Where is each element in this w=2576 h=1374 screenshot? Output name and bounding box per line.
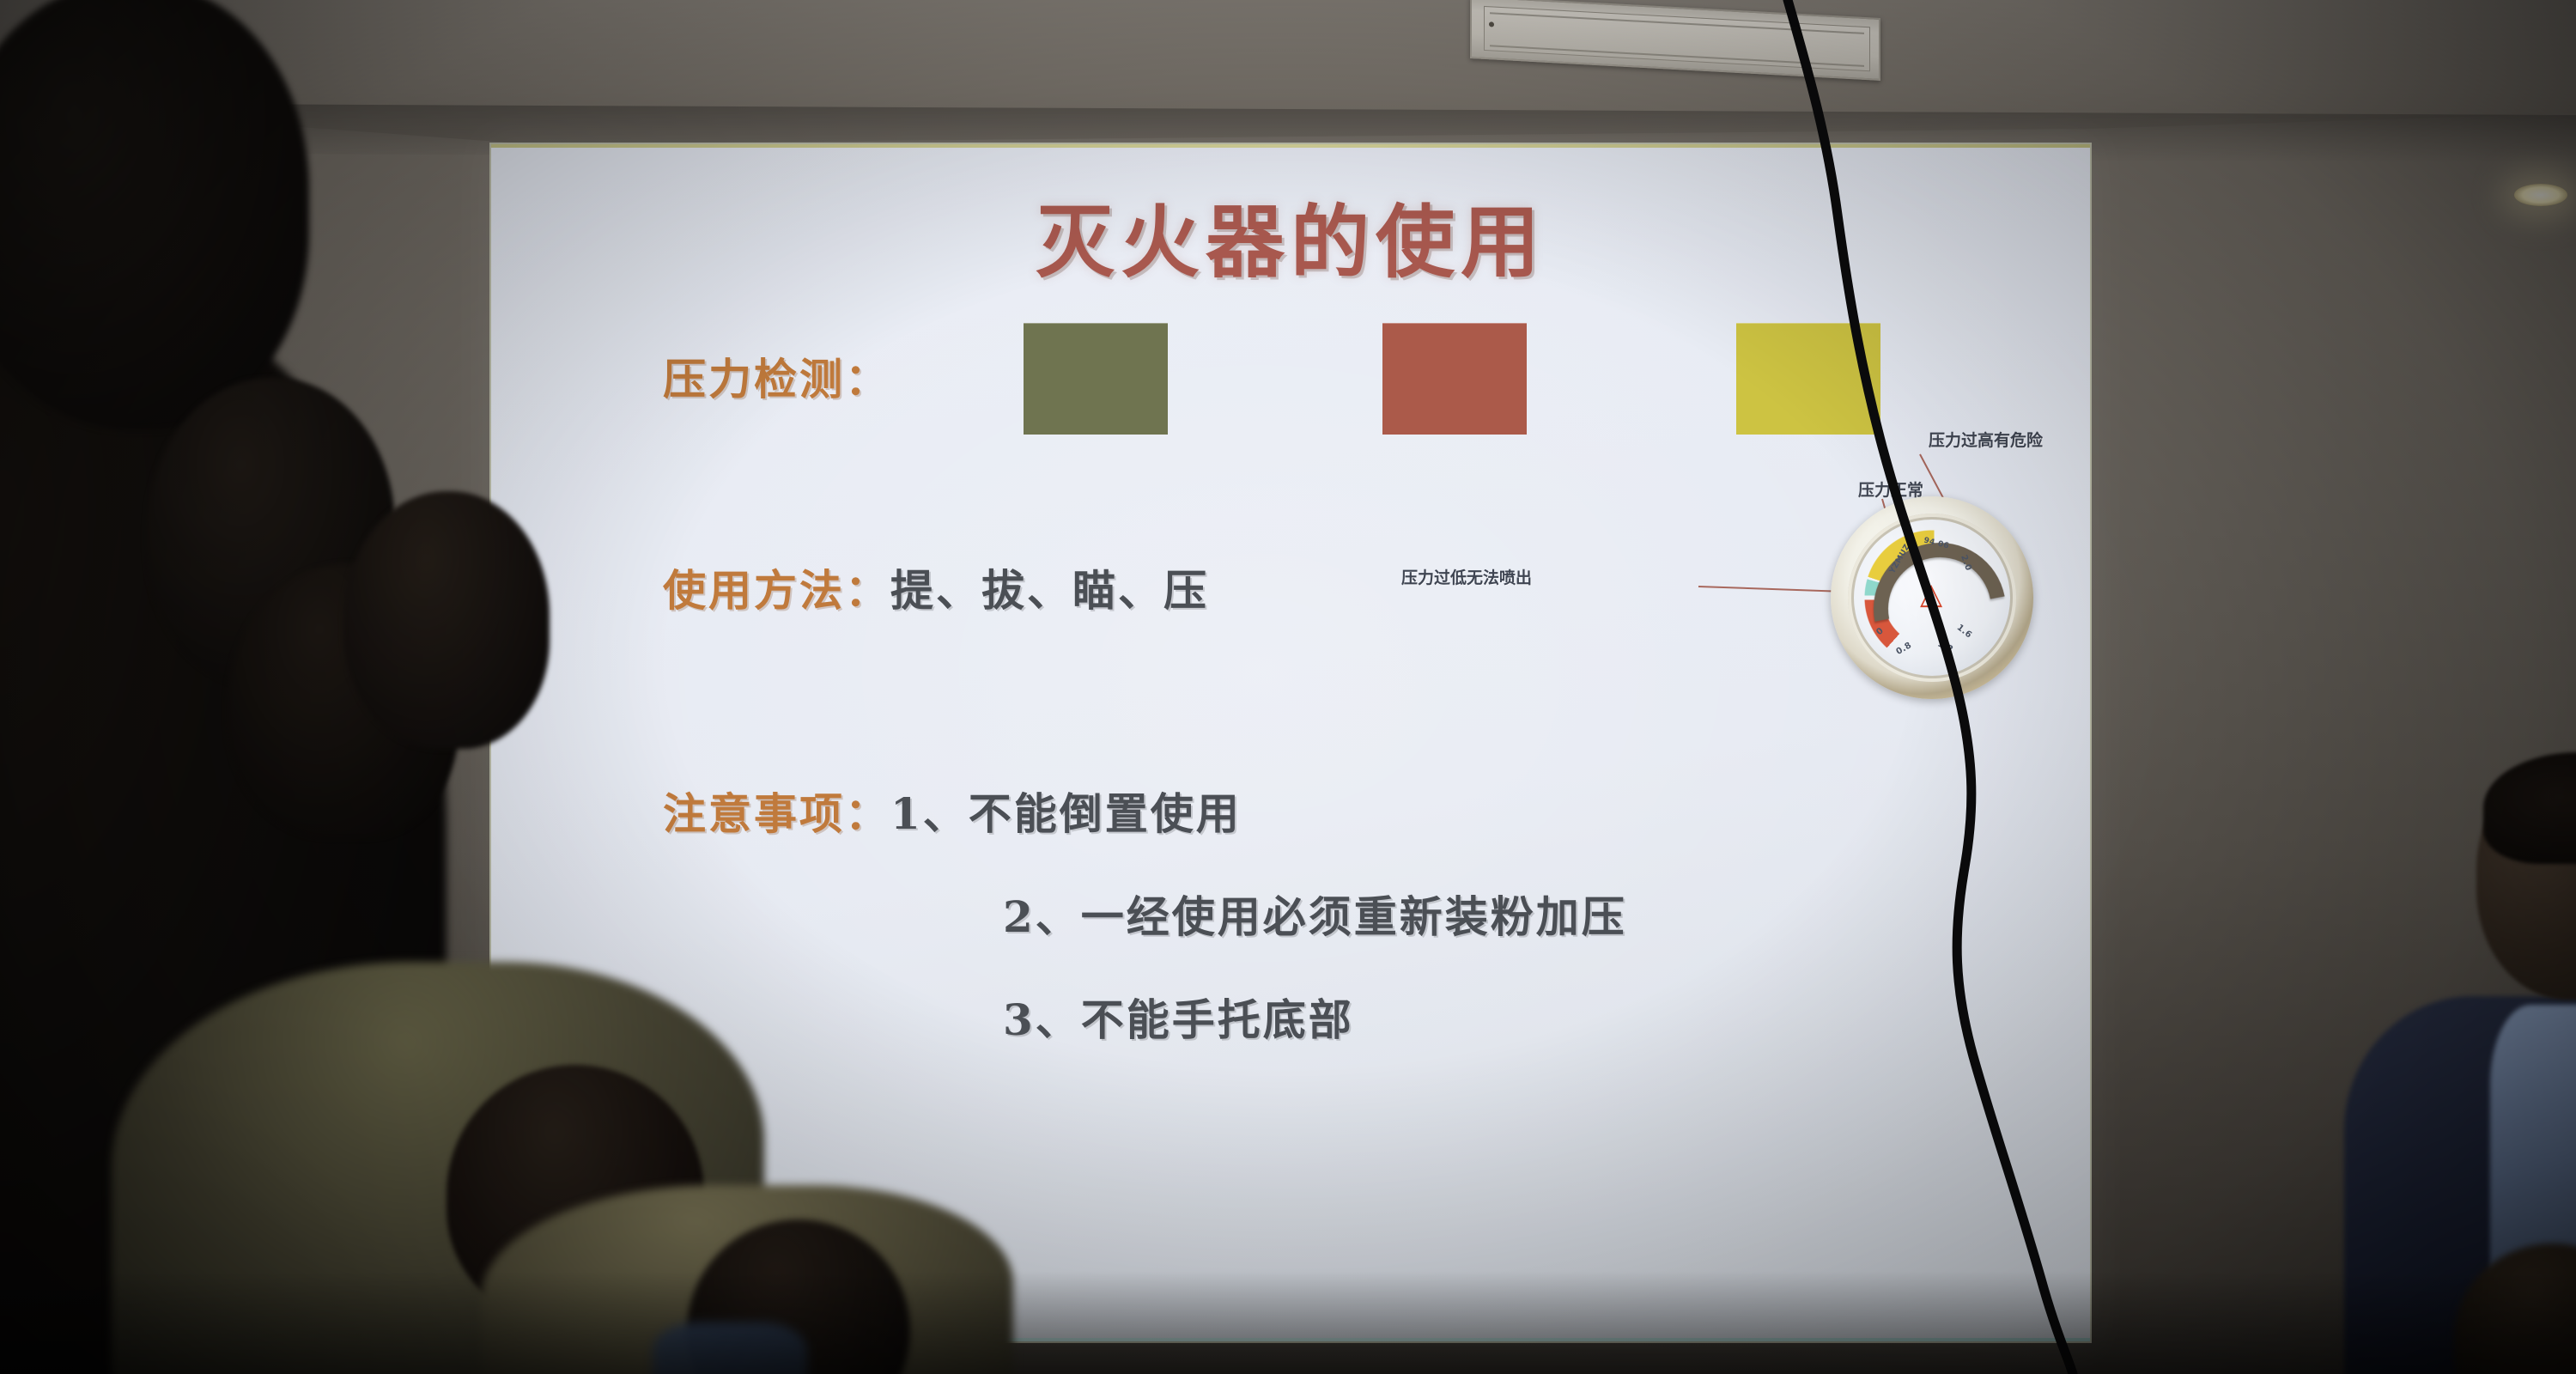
pressure-label: 压力检测： — [663, 345, 890, 407]
swatch-green-normal — [1024, 323, 1168, 435]
slide-title: 灭火器的使用 — [491, 179, 2090, 293]
ceiling-spot-light — [2514, 184, 2567, 206]
note-line-2: 2、一经使用必须重新装粉加压 — [663, 883, 1627, 945]
pressure-gauge-illustration: 压力过高有危险 压力正常 压力过低无法喷出 △ 0 — [1752, 435, 2090, 709]
gauge-brand-logo-icon: △ — [1920, 581, 1954, 610]
gauge-body: △ 0 0.8 1.2 1.6 2.0 YZMUZ 94 06 — [1831, 496, 2033, 699]
gauge-callout-low: 压力过低无法喷出 — [1401, 565, 1532, 588]
swatch-red-low — [1382, 323, 1527, 435]
note-item-3: 3、不能手托底部 — [1003, 994, 1354, 1045]
vent-screw-icon — [1489, 21, 1494, 27]
attendee-head-4 — [343, 491, 550, 749]
note-line-1: 注意事项：1、不能倒置使用 — [663, 780, 1627, 842]
pressure-detection-row: 压力检测： 压力过高有危险 压力正常 压力过低无法喷出 — [491, 323, 2090, 486]
notes-row: 注意事项：1、不能倒置使用 2、一经使用必须重新装粉加压 3、不能手托底部 — [663, 780, 1627, 1048]
vent-panel — [1484, 6, 1870, 71]
note-item-1: 1、不能倒置使用 — [890, 788, 1242, 839]
notes-label: 注意事项： — [663, 789, 890, 839]
usage-method-row: 使用方法：提、拔、瞄、压 — [663, 556, 1209, 618]
screenshot-stage: 灭火器的使用 压力检测： 压力过高有危险 压力正常 压力过低无法喷出 — [0, 0, 2576, 1374]
swatch-yellow-high — [1736, 323, 1880, 435]
usage-method-label: 使用方法： — [663, 566, 890, 616]
note-item-2: 2、一经使用必须重新装粉加压 — [1003, 891, 1627, 942]
attendee-blue-garment — [653, 1322, 807, 1374]
gauge-leader-line-low — [1698, 586, 1843, 593]
gauge-face: △ 0 0.8 1.2 1.6 2.0 YZMUZ 94 06 — [1848, 514, 2016, 682]
note-line-3: 3、不能手托底部 — [663, 986, 1627, 1048]
audience-head-silhouette — [0, 0, 309, 429]
gauge-callout-normal: 压力过高有危险 — [1929, 428, 2043, 451]
usage-method-value: 提、拔、瞄、压 — [890, 566, 1209, 616]
